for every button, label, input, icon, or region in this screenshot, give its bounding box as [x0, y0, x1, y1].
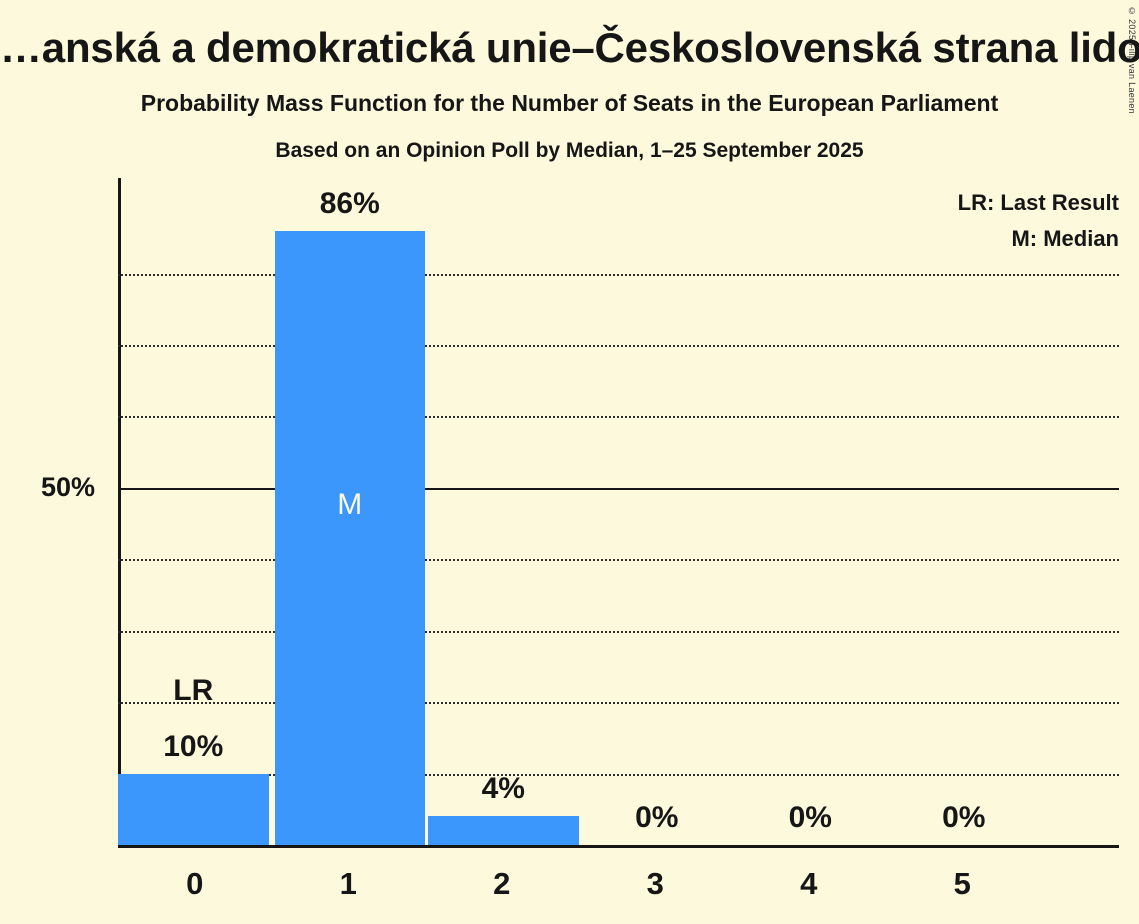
x-tick-label-5: 5 — [886, 868, 1040, 899]
bar-0[interactable] — [118, 774, 269, 845]
bar-value-label-3: 0% — [582, 803, 733, 833]
bar-value-label-0: 10% — [118, 732, 269, 762]
gridline-60 — [118, 416, 1119, 418]
bar-2[interactable] — [428, 816, 579, 845]
gridline-80 — [118, 274, 1119, 276]
x-tick-label-0: 0 — [118, 868, 272, 899]
gridline-70 — [118, 345, 1119, 347]
x-tick-label-3: 3 — [579, 868, 733, 899]
bar-value-label-5: 0% — [889, 803, 1040, 833]
x-tick-label-1: 1 — [272, 868, 426, 899]
y-tick-label-50: 50% — [0, 474, 95, 501]
median-marker: M — [275, 490, 426, 520]
chart-root: © 2025 Filip van Laenen …anská a demokra… — [0, 0, 1139, 924]
gridline-40 — [118, 559, 1119, 561]
chart-source-note: Based on an Opinion Poll by Median, 1–25… — [0, 135, 1139, 167]
plot-area: 50% 10%LRM86%4%0%0%0% 012345 — [118, 178, 1119, 848]
gridline-50 — [118, 488, 1119, 490]
x-axis-line — [118, 845, 1119, 848]
chart-title: …anská a demokratická unie–Československ… — [0, 22, 1139, 74]
x-tick-label-4: 4 — [732, 868, 886, 899]
chart-subtitle: Probability Mass Function for the Number… — [0, 87, 1139, 119]
bar-value-label-4: 0% — [735, 803, 886, 833]
bar-value-label-2: 4% — [428, 774, 579, 804]
bar-1[interactable]: M — [275, 231, 426, 845]
last-result-marker: LR — [118, 676, 269, 706]
gridline-30 — [118, 631, 1119, 633]
x-tick-label-2: 2 — [425, 868, 579, 899]
bar-value-label-1: 86% — [275, 189, 426, 219]
